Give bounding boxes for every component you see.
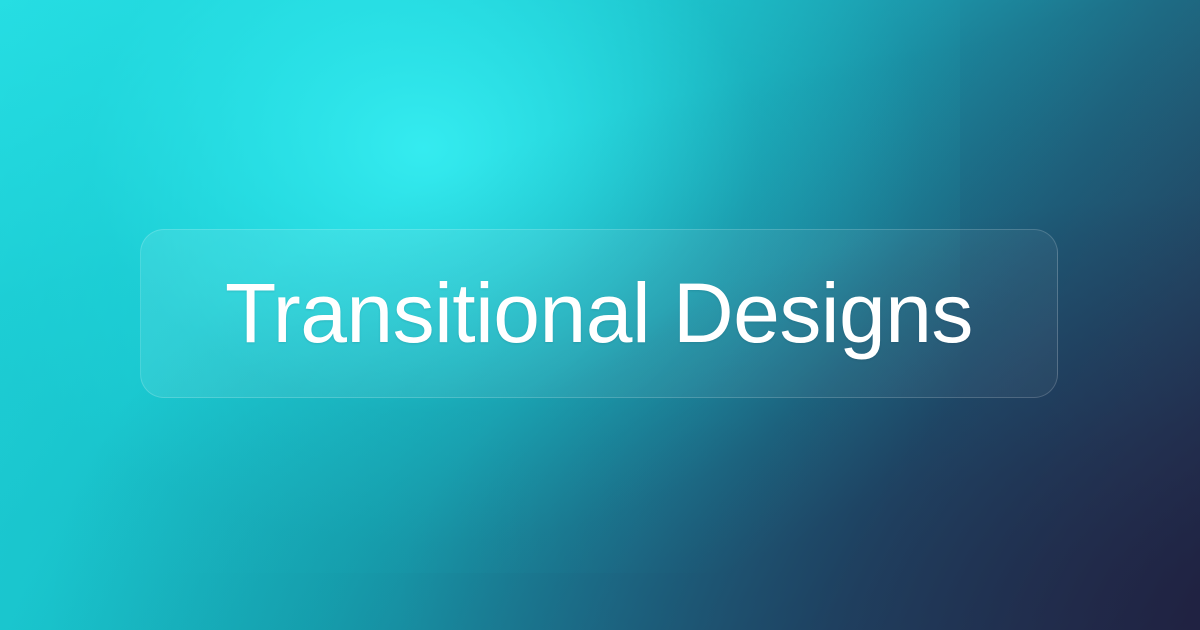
title-card: Transitional Designs: [140, 229, 1058, 398]
page-title: Transitional Designs: [225, 270, 973, 357]
og-image-canvas: Transitional Designs: [0, 0, 1200, 630]
